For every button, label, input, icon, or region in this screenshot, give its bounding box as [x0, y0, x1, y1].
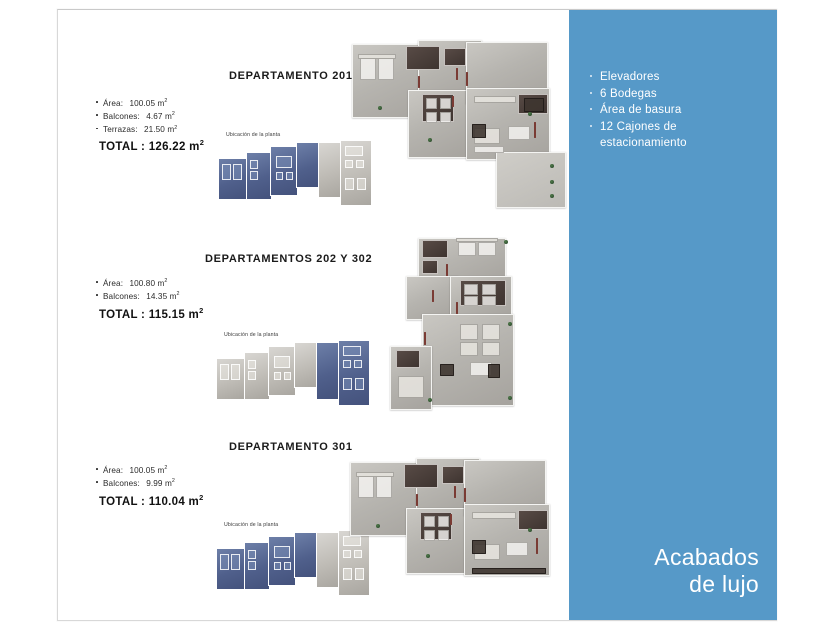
- amenity-label: 6 Bodegas: [600, 88, 657, 100]
- keyplan-caption: Ubicación de la planta: [224, 332, 278, 338]
- total-value: 110.04 m: [149, 496, 199, 508]
- brand-line-2: de lujo: [654, 571, 759, 598]
- spec-label: Área:: [103, 278, 123, 290]
- amenity-item: Área de basura: [589, 103, 764, 119]
- bullet-icon: [590, 125, 592, 127]
- amenities-list: Elevadores 6 Bodegas Área de basura 12 C…: [589, 70, 764, 153]
- spec-value: 21.50 m: [144, 124, 174, 136]
- unit-block-301: DEPARTAMENTO 301 Área: 100.05 m2 Balcone…: [58, 418, 569, 618]
- brochure-page: Elevadores 6 Bodegas Área de basura 12 C…: [57, 9, 777, 621]
- spec-row: Área: 100.80 m2: [96, 276, 180, 289]
- keyplan-301: Ubicación de la planta: [216, 522, 366, 602]
- page-title: DEPARTAMENTO 201: [229, 70, 353, 82]
- keyplan-caption: Ubicación de la planta: [226, 132, 280, 138]
- spec-value: 9.99 m: [146, 478, 172, 490]
- spec-value: 4.67 m: [146, 111, 172, 123]
- bullet-icon: [590, 108, 592, 110]
- spec-label: Área:: [103, 465, 123, 477]
- total-value: 126.22 m: [149, 141, 200, 153]
- total-value: 115.15 m: [149, 309, 199, 321]
- spec-value: 14.35 m: [146, 291, 176, 303]
- spec-list: Área: 100.05 m2 Balcones: 4.67 m2 Terraz…: [96, 96, 177, 136]
- page-title: DEPARTAMENTO 301: [229, 441, 353, 453]
- spec-list: Área: 100.05 m2 Balcones: 9.99 m2: [96, 463, 175, 490]
- total-label: TOTAL :: [99, 496, 145, 508]
- bullet-icon: [96, 481, 98, 483]
- spec-row: Balcones: 14.35 m2: [96, 289, 180, 302]
- page-title: DEPARTAMENTOS 202 Y 302: [205, 253, 372, 265]
- amenity-item: Elevadores: [589, 70, 764, 86]
- floorplan-201: [348, 38, 563, 218]
- spec-row: Terrazas: 21.50 m2: [96, 123, 177, 136]
- bullet-icon: [590, 75, 592, 77]
- amenity-label: 12 Cajones de: [600, 121, 677, 133]
- brand-line-1: Acabados: [654, 544, 759, 571]
- bullet-icon: [96, 468, 98, 470]
- spec-list: Área: 100.80 m2 Balcones: 14.35 m2: [96, 276, 180, 303]
- unit-block-201: DEPARTAMENTO 201 Área: 100.05 m2 Balcone…: [58, 10, 569, 220]
- spec-label: Balcones:: [103, 111, 140, 123]
- keyplan-201: Ubicación de la planta: [218, 132, 368, 212]
- bullet-icon: [96, 114, 98, 116]
- bullet-icon: [96, 101, 98, 103]
- bullet-icon: [96, 294, 98, 296]
- total-row: TOTAL : 115.15 m2: [99, 306, 204, 321]
- amenity-label: Elevadores: [600, 71, 660, 83]
- spec-label: Terrazas:: [103, 124, 138, 136]
- spec-value: 100.05 m: [129, 465, 164, 477]
- spec-value: 100.80 m: [129, 278, 164, 290]
- keyplan-202-302: Ubicación de la planta: [216, 332, 366, 412]
- total-row: TOTAL : 110.04 m2: [99, 493, 204, 508]
- amenity-item: 12 Cajones de: [589, 120, 764, 136]
- keyplan-caption: Ubicación de la planta: [224, 522, 278, 528]
- spec-row: Balcones: 4.67 m2: [96, 109, 177, 122]
- amenity-item-continuation: estacionamiento: [589, 136, 764, 152]
- amenity-item: 6 Bodegas: [589, 87, 764, 103]
- total-label: TOTAL :: [99, 309, 145, 321]
- total-label: TOTAL :: [99, 141, 145, 153]
- bullet-icon: [96, 128, 98, 130]
- amenity-label: estacionamiento: [600, 137, 687, 149]
- floorplan-202-302: [388, 236, 558, 421]
- bullet-icon: [590, 92, 592, 94]
- spec-row: Balcones: 9.99 m2: [96, 476, 175, 489]
- bullet-icon: [96, 281, 98, 283]
- brand-tagline: Acabados de lujo: [654, 544, 759, 598]
- spec-label: Balcones:: [103, 291, 140, 303]
- spec-label: Balcones:: [103, 478, 140, 490]
- spec-label: Área:: [103, 98, 123, 110]
- spec-row: Área: 100.05 m2: [96, 463, 175, 476]
- total-row: TOTAL : 126.22 m2: [99, 138, 204, 153]
- floorplan-301: [346, 456, 561, 606]
- spec-row: Área: 100.05 m2: [96, 96, 177, 109]
- spec-value: 100.05 m: [129, 98, 164, 110]
- amenity-label: Área de basura: [600, 104, 681, 116]
- unit-block-202-302: DEPARTAMENTOS 202 Y 302 Área: 100.80 m2 …: [58, 218, 569, 418]
- amenities-panel: Elevadores 6 Bodegas Área de basura 12 C…: [569, 10, 777, 620]
